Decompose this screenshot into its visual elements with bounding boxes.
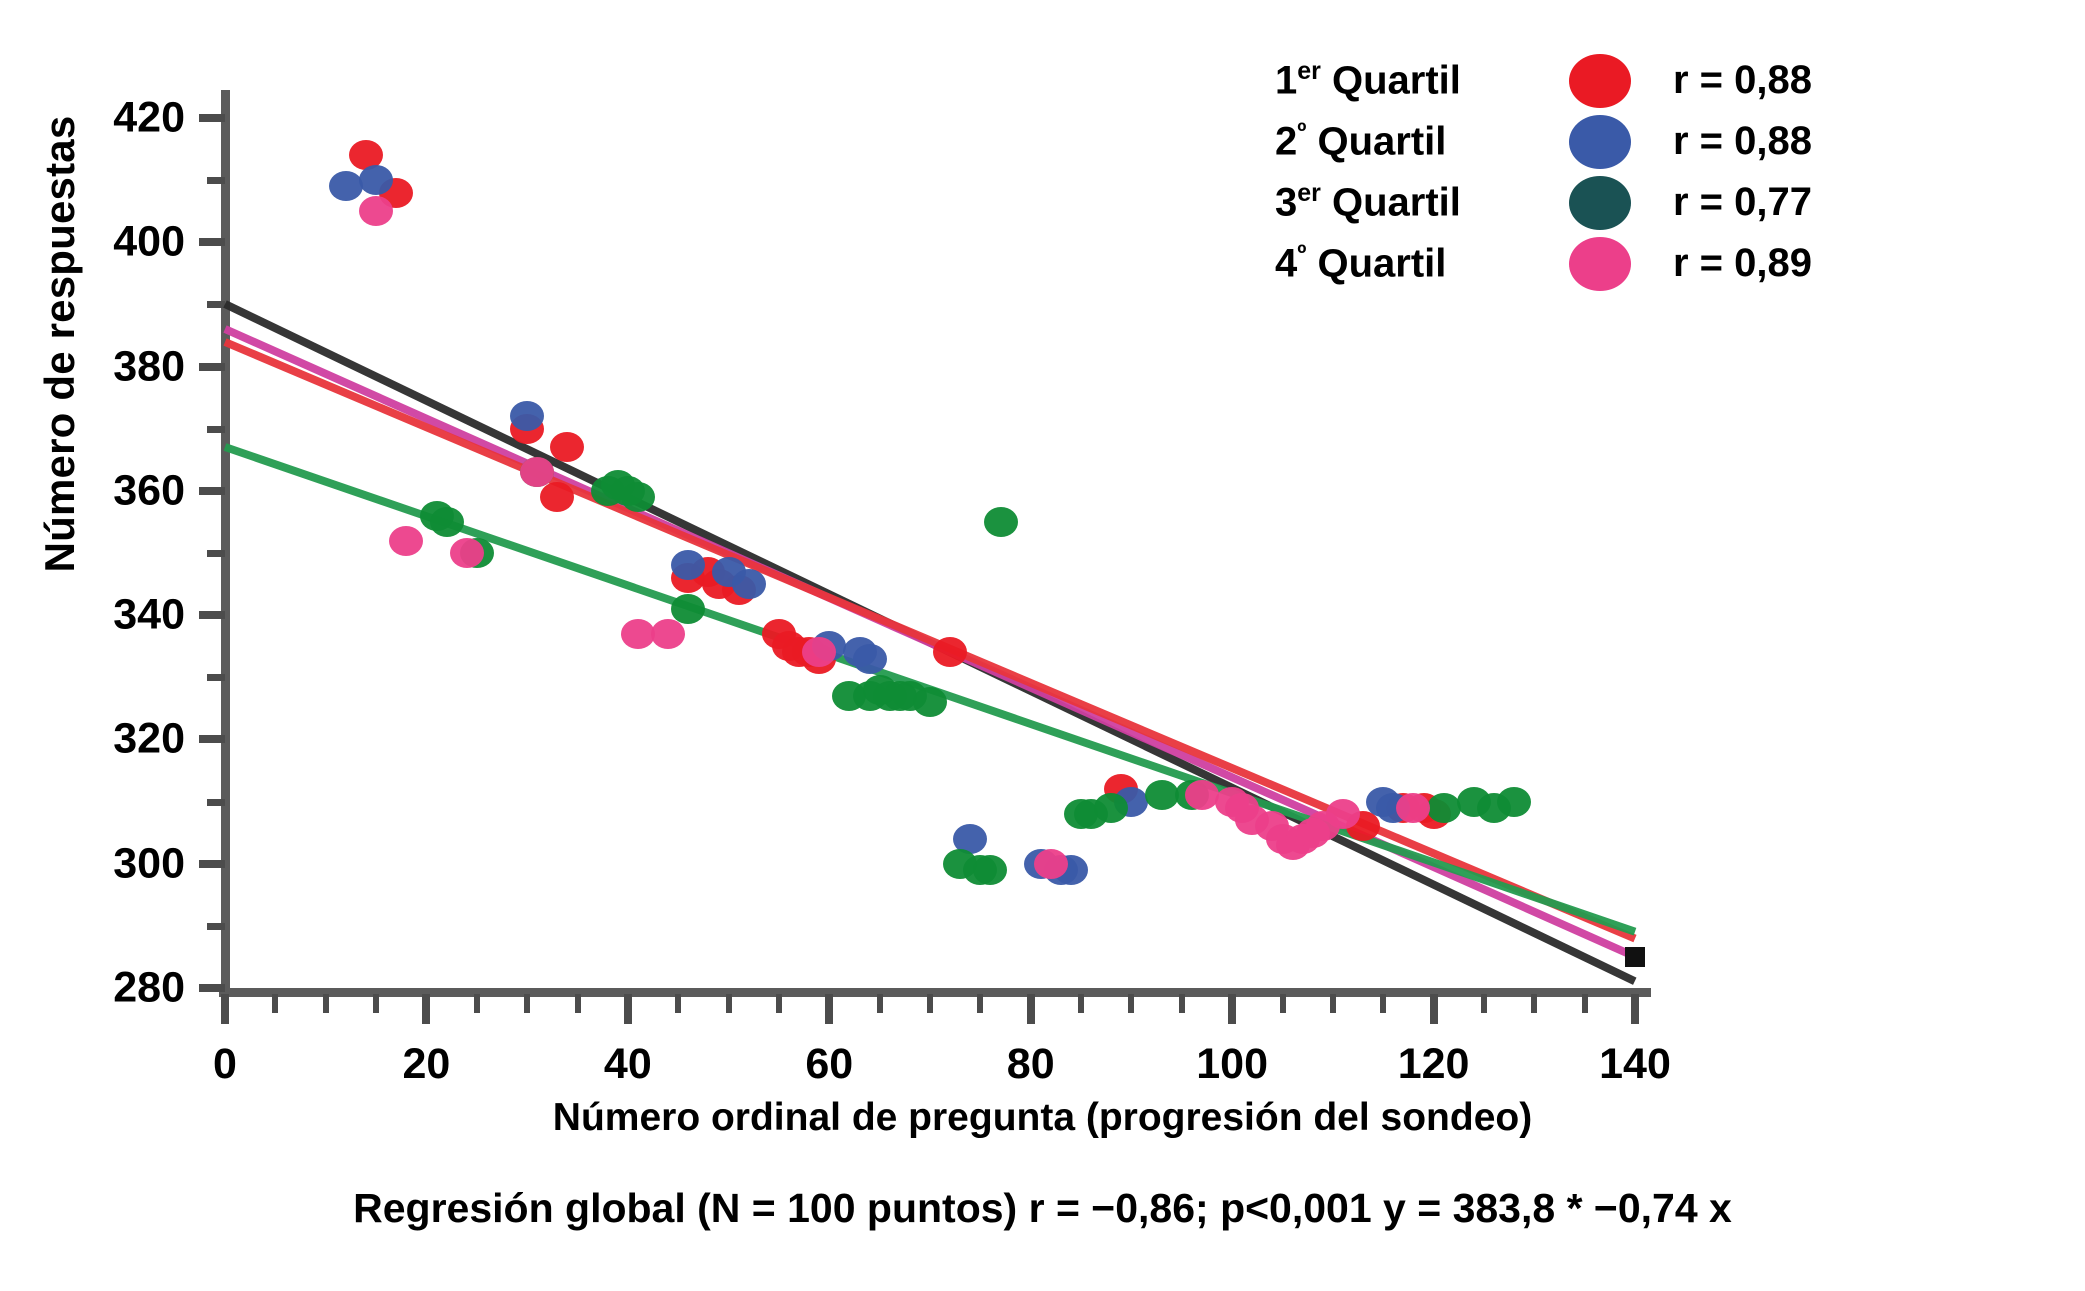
y-axis-line bbox=[221, 90, 230, 994]
legend-swatch-cell bbox=[1545, 176, 1655, 230]
y-tick-minor bbox=[207, 426, 225, 433]
legend-swatch-cell bbox=[1545, 54, 1655, 108]
x-tick-minor bbox=[575, 994, 581, 1013]
legend-color-dot-icon bbox=[1569, 176, 1631, 230]
x-tick-label: 120 bbox=[1374, 1040, 1494, 1089]
legend-color-dot-icon bbox=[1569, 54, 1631, 108]
x-tick-minor bbox=[1128, 994, 1134, 1013]
data-point bbox=[1396, 793, 1430, 823]
x-tick-minor bbox=[675, 994, 681, 1013]
data-point bbox=[1427, 793, 1461, 823]
legend-item[interactable]: 1er Quartilr = 0,88 bbox=[1275, 50, 1812, 111]
x-tick-minor bbox=[524, 994, 530, 1013]
data-point bbox=[732, 569, 766, 599]
x-tick-minor bbox=[373, 994, 379, 1013]
x-tick-label: 40 bbox=[568, 1040, 688, 1089]
legend-item-label: 4º Quartil bbox=[1275, 240, 1545, 286]
legend-color-dot-icon bbox=[1569, 115, 1631, 169]
x-tick-label: 20 bbox=[366, 1040, 486, 1089]
y-tick-minor bbox=[207, 177, 225, 184]
trend-line-quartil1-red bbox=[223, 338, 1636, 942]
x-axis-title: Número ordinal de pregunta (progresión d… bbox=[0, 1096, 2085, 1140]
x-tick-minor bbox=[927, 994, 933, 1013]
data-point bbox=[973, 855, 1007, 885]
regression-caption: Regresión global (N = 100 puntos) r = −0… bbox=[0, 1185, 2085, 1232]
x-tick-minor bbox=[272, 994, 278, 1013]
x-tick-major bbox=[1631, 994, 1639, 1024]
data-point bbox=[329, 171, 363, 201]
x-tick-label: 0 bbox=[165, 1040, 285, 1089]
legend-item[interactable]: 3er Quartilr = 0,77 bbox=[1275, 172, 1812, 233]
y-tick-major bbox=[199, 984, 225, 992]
y-tick-major bbox=[199, 735, 225, 743]
legend-correlation-value: r = 0,77 bbox=[1673, 180, 1812, 225]
y-tick-minor bbox=[207, 799, 225, 806]
data-point bbox=[651, 619, 685, 649]
y-tick-label: 400 bbox=[65, 218, 185, 267]
x-tick-label: 80 bbox=[971, 1040, 1091, 1089]
x-tick-major bbox=[221, 994, 229, 1024]
data-point bbox=[621, 482, 655, 512]
data-point bbox=[913, 687, 947, 717]
data-point bbox=[1034, 849, 1068, 879]
data-point bbox=[933, 637, 967, 667]
x-tick-minor bbox=[1179, 994, 1185, 1013]
data-point bbox=[359, 196, 393, 226]
legend-color-dot-icon bbox=[1569, 237, 1631, 291]
x-tick-minor bbox=[1481, 994, 1487, 1013]
legend-correlation-value: r = 0,89 bbox=[1673, 241, 1812, 286]
data-point bbox=[671, 550, 705, 580]
y-tick-label: 380 bbox=[65, 342, 185, 391]
data-point bbox=[550, 432, 584, 462]
y-tick-label: 280 bbox=[65, 964, 185, 1013]
y-tick-label: 340 bbox=[65, 591, 185, 640]
data-point bbox=[853, 644, 887, 674]
data-point bbox=[450, 538, 484, 568]
data-point bbox=[359, 165, 393, 195]
y-tick-major bbox=[199, 860, 225, 868]
y-tick-label: 420 bbox=[65, 94, 185, 143]
legend-item-label: 2º Quartil bbox=[1275, 118, 1545, 164]
data-point bbox=[1094, 793, 1128, 823]
data-point bbox=[510, 401, 544, 431]
y-tick-major bbox=[199, 487, 225, 495]
x-tick-label: 140 bbox=[1575, 1040, 1695, 1089]
data-point bbox=[430, 507, 464, 537]
legend-item[interactable]: 2º Quartilr = 0,88 bbox=[1275, 111, 1812, 172]
data-point bbox=[1145, 780, 1179, 810]
y-tick-major bbox=[199, 363, 225, 371]
x-tick-major bbox=[1228, 994, 1236, 1024]
legend-swatch-cell bbox=[1545, 115, 1655, 169]
y-tick-minor bbox=[207, 550, 225, 557]
x-tick-minor bbox=[1078, 994, 1084, 1013]
x-tick-minor bbox=[776, 994, 782, 1013]
data-point bbox=[1185, 780, 1219, 810]
data-point bbox=[802, 637, 836, 667]
x-tick-minor bbox=[474, 994, 480, 1013]
y-tick-major bbox=[199, 238, 225, 246]
legend-swatch-cell bbox=[1545, 237, 1655, 291]
x-tick-label: 100 bbox=[1172, 1040, 1292, 1089]
x-tick-minor bbox=[726, 994, 732, 1013]
x-tick-major bbox=[422, 994, 430, 1024]
data-point bbox=[520, 457, 554, 487]
x-tick-minor bbox=[323, 994, 329, 1013]
legend-item[interactable]: 4º Quartilr = 0,89 bbox=[1275, 233, 1812, 294]
data-point bbox=[984, 507, 1018, 537]
x-tick-minor bbox=[1280, 994, 1286, 1013]
y-tick-major bbox=[199, 114, 225, 122]
x-tick-major bbox=[825, 994, 833, 1024]
x-tick-minor bbox=[1330, 994, 1336, 1013]
data-point bbox=[671, 594, 705, 624]
data-point bbox=[1326, 799, 1360, 829]
y-tick-major bbox=[199, 611, 225, 619]
y-tick-minor bbox=[207, 923, 225, 930]
x-tick-major bbox=[624, 994, 632, 1024]
y-tick-label: 300 bbox=[65, 839, 185, 888]
end-marker-square bbox=[1625, 947, 1645, 967]
x-tick-minor bbox=[977, 994, 983, 1013]
data-point bbox=[389, 526, 423, 556]
x-tick-major bbox=[1027, 994, 1035, 1024]
x-tick-minor bbox=[1531, 994, 1537, 1013]
x-tick-minor bbox=[1582, 994, 1588, 1013]
data-point bbox=[621, 619, 655, 649]
legend-item-label: 3er Quartil bbox=[1275, 179, 1545, 225]
legend-correlation-value: r = 0,88 bbox=[1673, 58, 1812, 103]
x-tick-major bbox=[1430, 994, 1438, 1024]
y-tick-minor bbox=[207, 674, 225, 681]
x-tick-label: 60 bbox=[769, 1040, 889, 1089]
x-tick-minor bbox=[877, 994, 883, 1013]
chart-legend: 1er Quartilr = 0,882º Quartilr = 0,883er… bbox=[1275, 50, 1812, 294]
data-point bbox=[1497, 787, 1531, 817]
legend-correlation-value: r = 0,88 bbox=[1673, 119, 1812, 164]
x-tick-minor bbox=[1380, 994, 1386, 1013]
chart-figure: Número de respuestas 2803003203403603804… bbox=[0, 0, 2085, 1291]
y-tick-label: 320 bbox=[65, 715, 185, 764]
y-tick-label: 360 bbox=[65, 466, 185, 515]
legend-item-label: 1er Quartil bbox=[1275, 57, 1545, 103]
data-point bbox=[540, 482, 574, 512]
